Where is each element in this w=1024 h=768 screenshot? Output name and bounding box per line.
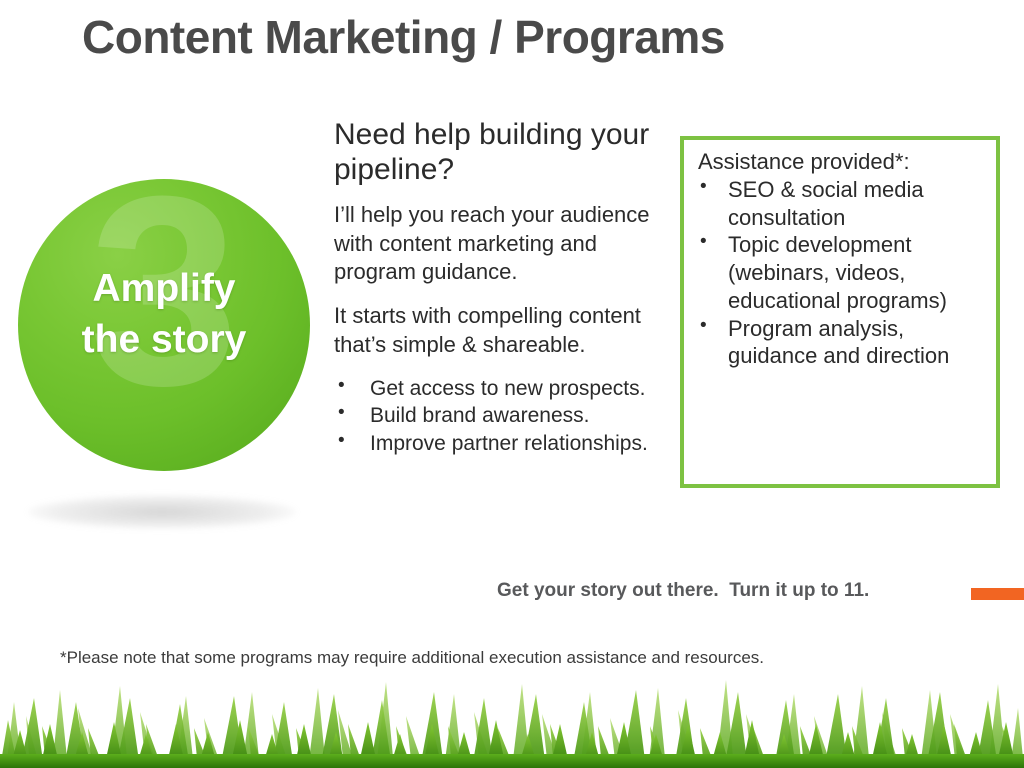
tagline: Get your story out there. Turn it up to …	[497, 580, 869, 602]
grass-border-icon	[0, 668, 1024, 768]
step-badge-amplify: 3 Amplify the story	[18, 179, 310, 471]
slide-canvas: Content Marketing / Programs 3 Amplify t…	[0, 0, 1024, 768]
badge-label: Amplify the story	[18, 263, 310, 366]
list-item: Topic development (webinars, videos, edu…	[694, 231, 990, 314]
list-item: Build brand awareness.	[334, 402, 706, 429]
middle-bullet-list: Get access to new prospects. Build brand…	[334, 375, 706, 457]
badge-label-line-2: the story	[18, 314, 310, 365]
assistance-heading: Assistance provided*:	[698, 148, 910, 176]
middle-paragraph-1: I’ll help you reach your audience with c…	[334, 201, 682, 286]
middle-paragraph-2: It starts with compelling content that’s…	[334, 302, 682, 359]
assistance-callout-box: Assistance provided*: SEO & social media…	[680, 136, 1000, 488]
list-item: Improve partner relationships.	[334, 430, 706, 457]
badge-shadow	[28, 495, 296, 529]
badge-label-line-1: Amplify	[18, 263, 310, 314]
assistance-bullet-list: SEO & social media consultation Topic de…	[694, 176, 990, 370]
footnote: *Please note that some programs may requ…	[60, 648, 764, 668]
orange-accent-bar	[971, 588, 1024, 600]
middle-heading: Need help building your pipeline?	[334, 117, 682, 187]
middle-column: Need help building your pipeline? I’ll h…	[334, 117, 682, 457]
page-title: Content Marketing / Programs	[82, 12, 962, 64]
list-item: Program analysis, guidance and direction	[694, 315, 990, 370]
list-item: Get access to new prospects.	[334, 375, 706, 402]
list-item: SEO & social media consultation	[694, 176, 990, 231]
